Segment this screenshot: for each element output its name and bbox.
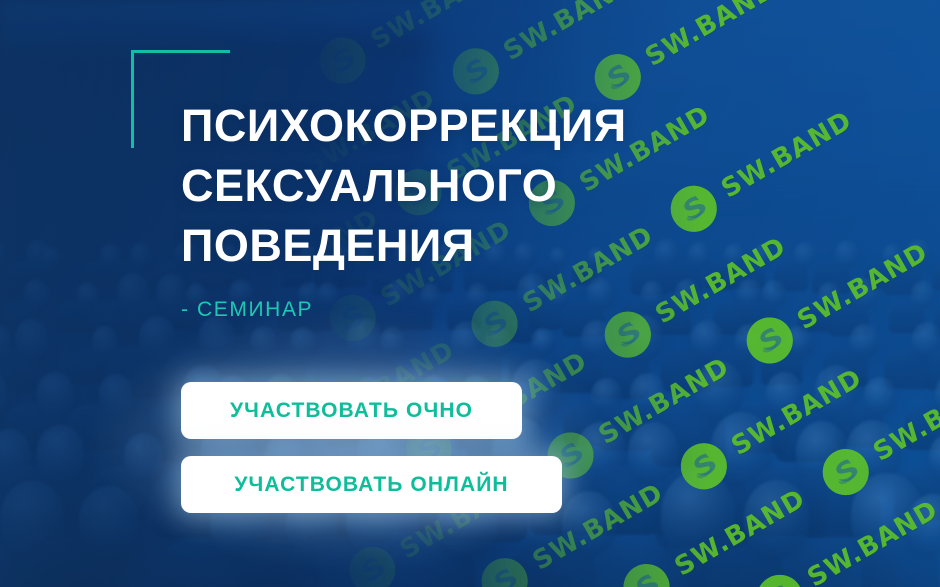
- page-title: ПСИХОКОРРЕКЦИЯ СЕКСУАЛЬНОГО ПОВЕДЕНИЯ: [181, 96, 801, 276]
- banner-content: ПСИХОКОРРЕКЦИЯ СЕКСУАЛЬНОГО ПОВЕДЕНИЯ - …: [0, 0, 940, 587]
- page-title-line-2: СЕКСУАЛЬНОГО: [181, 156, 801, 216]
- page-subtitle: - СЕМИНАР: [181, 298, 313, 322]
- page-title-line-1: ПСИХОКОРРЕКЦИЯ: [181, 96, 801, 156]
- cta-button-group: УЧАСТВОВАТЬ ОЧНО УЧАСТВОВАТЬ ОНЛАЙН: [181, 382, 562, 513]
- participate-online-button[interactable]: УЧАСТВОВАТЬ ОНЛАЙН: [181, 456, 562, 513]
- promo-banner: SW.BANDSW.BANDSW.BANDSW.BANDSW.BANDSW.BA…: [0, 0, 940, 587]
- participate-onsite-button[interactable]: УЧАСТВОВАТЬ ОЧНО: [181, 382, 522, 439]
- page-title-line-3: ПОВЕДЕНИЯ: [181, 216, 801, 276]
